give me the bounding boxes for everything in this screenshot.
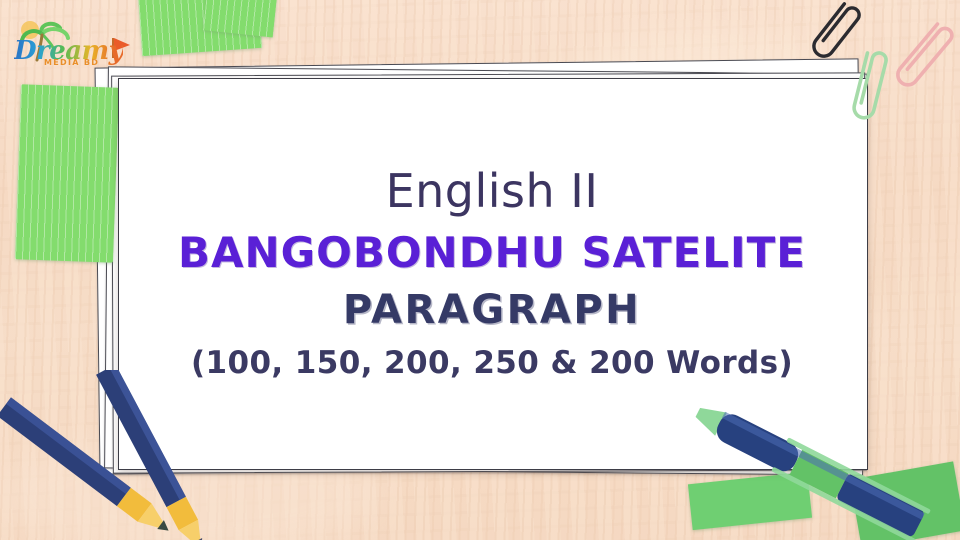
- notepad-left-edge: [15, 84, 119, 262]
- thumbnail-canvas: English II BANGOBONDHU SATELITE PARAGRAP…: [0, 0, 960, 540]
- logo-subtitle: MEDIA BD: [44, 58, 99, 67]
- notepad-ruling-lines: [15, 84, 119, 262]
- word-count-label: (100, 150, 200, 250 & 200 Words): [191, 348, 793, 379]
- dreamy-logo[interactable]: Dreamy MEDIA BD: [8, 18, 130, 70]
- content-type-label: PARAGRAPH: [343, 290, 641, 330]
- pen-bottom-right: [660, 408, 960, 540]
- main-title: BANGOBONDHU SATELITE: [178, 232, 806, 274]
- pencil-left-upper: [42, 370, 262, 540]
- paperclip-green: [832, 46, 902, 138]
- subject-heading: English II: [386, 168, 599, 214]
